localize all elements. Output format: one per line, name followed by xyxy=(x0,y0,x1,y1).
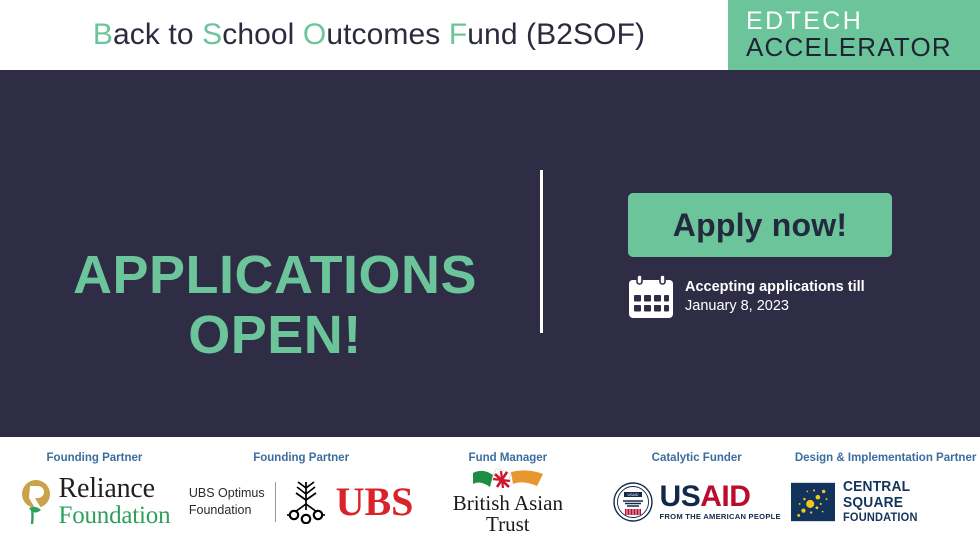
usaid-tagline: FROM THE AMERICAN PEOPLE xyxy=(660,513,781,521)
partners-footer: Founding Partner Reliance Foundation xyxy=(0,437,980,551)
usaid-logo: USAID USAID FROM THE AMERICAN PEOPLE xyxy=(613,482,781,522)
deadline-date: January 8, 2023 xyxy=(685,297,865,316)
cta-column: Apply now! xyxy=(628,193,898,319)
title-segment: und (B2SOF) xyxy=(467,18,645,51)
title-segment: S xyxy=(202,18,222,51)
headline: APPLICATIONS OPEN! xyxy=(40,245,510,366)
badge-line-accelerator: ACCELERATOR xyxy=(746,34,980,61)
badge-line-edtech: EDTECH xyxy=(746,9,980,35)
usaid-us-text: US xyxy=(660,480,701,513)
partner-ubs-optimus-foundation: Founding Partner UBS Optimus Foundation xyxy=(189,437,414,531)
csf-line-2: FOUNDATION xyxy=(843,511,969,524)
reliance-line-2: Foundation xyxy=(58,503,170,528)
bat-line-2: Trust xyxy=(453,514,563,535)
partner-label: Fund Manager xyxy=(469,451,548,467)
reliance-foundation-logo: Reliance Foundation xyxy=(18,475,170,528)
header-bar: Back to School Outcomes Fund (B2SOF) EDT… xyxy=(0,0,980,70)
partner-label: Catalytic Funder xyxy=(652,451,742,467)
csf-line-1: CENTRAL SQUARE xyxy=(843,479,969,511)
bat-line-1: British Asian xyxy=(453,493,563,514)
title-segment: B xyxy=(93,18,113,51)
logo-container: British Asian Trust xyxy=(453,473,563,531)
partner-british-asian-trust: Fund Manager British Asian Trust xyxy=(413,437,602,531)
title-segment: ack to xyxy=(113,18,202,51)
vertical-divider xyxy=(540,170,543,333)
reliance-wordmark: Reliance Foundation xyxy=(58,475,170,528)
reliance-line-1: Reliance xyxy=(58,475,170,503)
partner-label: Founding Partner xyxy=(253,451,349,467)
title-segment: F xyxy=(449,18,467,51)
usaid-seal-icon: USAID xyxy=(613,482,653,522)
partner-usaid: Catalytic Funder USAID xyxy=(602,437,791,531)
ubs-optimus-line-2: Foundation xyxy=(189,502,265,518)
usaid-aid-text: AID xyxy=(700,480,750,513)
page-title: Back to School Outcomes Fund (B2SOF) xyxy=(93,18,645,52)
ubs-optimus-foundation-logo: UBS Optimus Foundation xyxy=(189,480,414,524)
bat-ribbon-icon xyxy=(471,468,545,492)
csf-square-icon xyxy=(791,482,835,522)
deadline-row: Accepting applications till January 8, 2… xyxy=(628,275,898,319)
svg-text:USAID: USAID xyxy=(627,493,638,497)
logo-container: CENTRAL SQUARE FOUNDATION xyxy=(791,473,980,531)
title-segment: O xyxy=(303,18,326,51)
central-square-foundation-logo: CENTRAL SQUARE FOUNDATION xyxy=(791,479,980,523)
promo-banner: Back to School Outcomes Fund (B2SOF) EDT… xyxy=(0,0,980,551)
title-segment: utcomes xyxy=(326,18,449,51)
ubs-keys-icon xyxy=(286,480,326,524)
ubs-optimus-wordmark: UBS Optimus Foundation xyxy=(189,485,265,518)
ubs-wordmark: UBS xyxy=(336,482,414,522)
usaid-wordmark: USAID FROM THE AMERICAN PEOPLE xyxy=(660,482,781,521)
reliance-emblem-icon xyxy=(18,478,54,526)
header-title-container: Back to School Outcomes Fund (B2SOF) xyxy=(0,0,728,70)
headline-line-2: OPEN! xyxy=(40,305,510,365)
partner-central-square-foundation: Design & Implementation Partner xyxy=(791,437,980,531)
logo-container: UBS Optimus Foundation xyxy=(189,473,414,531)
bat-wordmark: British Asian Trust xyxy=(453,493,563,536)
partner-label: Design & Implementation Partner xyxy=(795,451,976,467)
csf-wordmark: CENTRAL SQUARE FOUNDATION xyxy=(843,479,980,523)
partner-label: Founding Partner xyxy=(47,451,143,467)
title-segment: chool xyxy=(222,18,303,51)
deadline-label: Accepting applications till xyxy=(685,278,865,297)
edtech-accelerator-badge: EDTECH ACCELERATOR xyxy=(728,0,980,70)
partner-reliance-foundation: Founding Partner Reliance Foundation xyxy=(0,437,189,531)
british-asian-trust-logo: British Asian Trust xyxy=(453,468,563,536)
headline-line-1: APPLICATIONS xyxy=(40,245,510,305)
usaid-main-word: USAID xyxy=(660,482,781,512)
apply-now-button[interactable]: Apply now! xyxy=(628,193,892,257)
calendar-icon xyxy=(628,275,674,319)
logo-container: Reliance Foundation xyxy=(18,473,170,531)
ubs-optimus-line-1: UBS Optimus xyxy=(189,485,265,501)
logo-separator xyxy=(275,482,276,522)
logo-container: USAID USAID FROM THE AMERICAN PEOPLE xyxy=(613,473,781,531)
main-content: APPLICATIONS OPEN! Apply now! xyxy=(0,70,980,437)
deadline-text: Accepting applications till January 8, 2… xyxy=(685,278,865,315)
